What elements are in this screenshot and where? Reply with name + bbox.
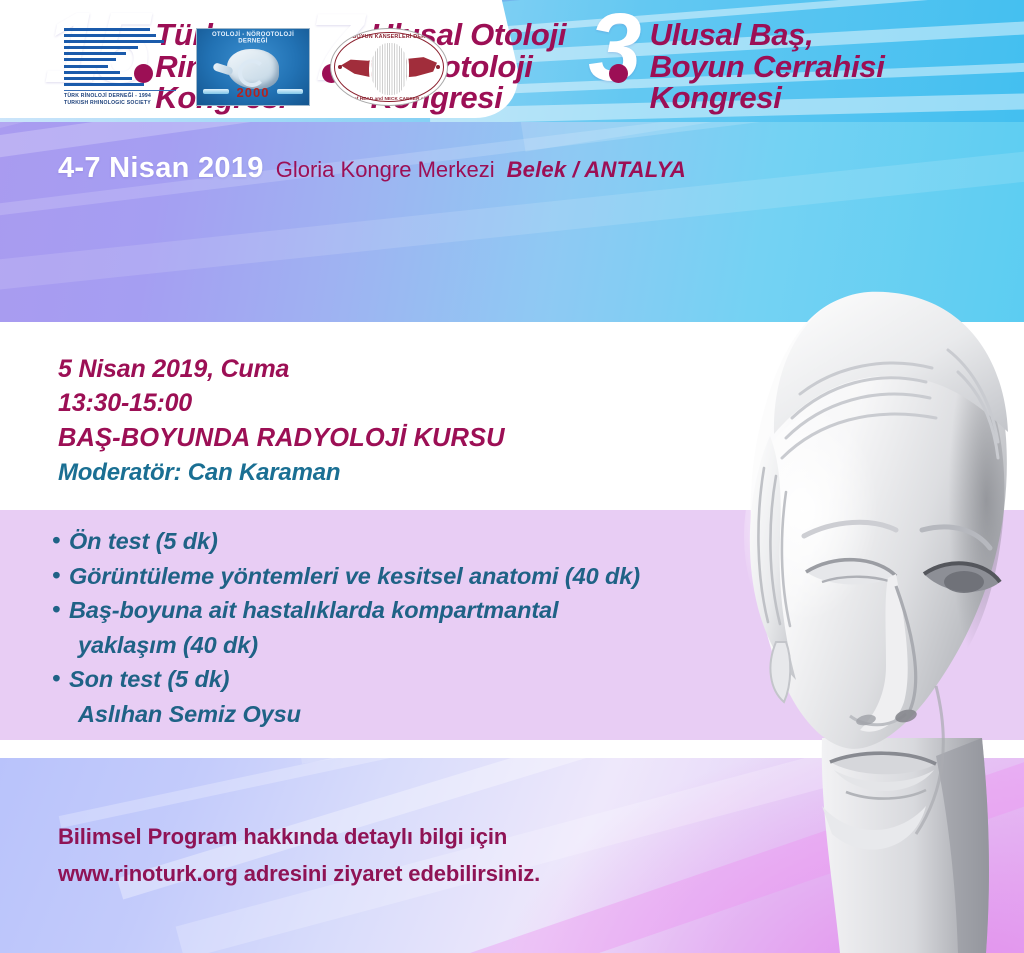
program-item-text: Baş-boyuna ait hastalıklarda kompartmant… <box>69 597 558 623</box>
bullet-icon: • <box>52 661 60 696</box>
society-logos: TÜRK RİNOLOJİ DERNEĞİ - 1994 TURKISH RHI… <box>64 28 448 106</box>
program-item-text: Son test (5 dk) <box>69 666 229 692</box>
turkish-rhinologic-society-logo: TÜRK RİNOLOJİ DERNEĞİ - 1994 TURKISH RHI… <box>64 28 176 106</box>
program-item-text: Ön test (5 dk) <box>69 528 218 554</box>
session-moderator: Moderatör: Can Karaman <box>58 456 505 490</box>
footer-line-1: Bilimsel Program hakkında detaylı bilgi … <box>58 818 540 855</box>
footer-info: Bilimsel Program hakkında detaylı bilgi … <box>58 818 540 892</box>
list-item: • Baş-boyuna ait hastalıklarda kompartma… <box>52 593 640 628</box>
session-info: 5 Nisan 2019, Cuma 13:30-15:00 BAŞ-BOYUN… <box>58 352 505 490</box>
logo1-caption-line1: TÜRK RİNOLOJİ DERNEĞİ - 1994 <box>64 93 176 100</box>
otology-neurotology-society-logo: OTOLOJİ - NÖROOTOLOJİ DERNEĞİ 2000 <box>196 28 310 106</box>
session-time: 13:30-15:00 <box>58 386 505 420</box>
congress-3: 3 Ulusal Baş, Boyun Cerrahisi Kongresi <box>588 5 884 114</box>
logo3-dot <box>338 65 342 69</box>
session-title: BAŞ-BOYUNDA RADYOLOJİ KURSU <box>58 420 505 456</box>
session-date: 5 Nisan 2019, Cuma <box>58 352 505 386</box>
footer-line-2: www.rinoturk.org adresini ziyaret edebil… <box>58 855 540 892</box>
logo2-arc-text: OTOLOJİ - NÖROOTOLOJİ DERNEĞİ <box>197 31 309 44</box>
congress-3-number: 3 <box>588 5 641 91</box>
head-profile-icon <box>371 43 407 95</box>
list-item: • Ön test (5 dk) <box>52 524 640 559</box>
congress-date-venue: 4-7 Nisan 2019 Gloria Kongre Merkezi Bel… <box>58 152 686 185</box>
congress-city: Belek / ANTALYA <box>507 157 686 183</box>
logo3-dot <box>436 65 440 69</box>
list-item-continuation: yaklaşım (40 dk) <box>52 628 640 663</box>
program-list: • Ön test (5 dk) • Görüntüleme yöntemler… <box>52 524 640 731</box>
program-item-continuation: yaklaşım (40 dk) <box>78 632 258 658</box>
list-item-speaker: Aslıhan Semiz Oysu <box>52 697 640 732</box>
program-item-text: Görüntüleme yöntemleri ve kesitsel anato… <box>69 563 640 589</box>
rhinology-bars-icon <box>64 28 172 86</box>
list-item: • Görüntüleme yöntemleri ve kesitsel ana… <box>52 559 640 594</box>
logo3-arc-bottom: SOCIETY of HEAD and NECK CANCER of TURKE… <box>331 96 447 101</box>
decorative-streak <box>515 122 1024 152</box>
ear-anatomy-icon <box>227 49 279 89</box>
list-item: • Son test (5 dk) <box>52 662 640 697</box>
ordinal-dot <box>609 64 628 83</box>
logo1-caption-line2: TURKISH RHINOLOGIC SOCIETY <box>64 100 176 107</box>
congress-poster: TÜRK RİNOLOJİ DERNEĞİ - 1994 TURKISH RHI… <box>0 0 1024 953</box>
congress-dates: 4-7 Nisan 2019 <box>58 152 264 185</box>
divider-strip <box>0 740 1024 758</box>
congress-venue: Gloria Kongre Merkezi <box>276 157 495 183</box>
program-speaker-name: Aslıhan Semiz Oysu <box>78 701 301 727</box>
head-neck-cancer-society-logo: BAŞ BOYUN KANSERLERİ DERNEĞİ SOCIETY of … <box>330 28 448 106</box>
logo2-year: 2000 <box>197 85 309 100</box>
bullet-icon: • <box>52 523 60 558</box>
logo3-arc-top: BAŞ BOYUN KANSERLERİ DERNEĞİ <box>331 34 447 40</box>
bullet-icon: • <box>52 558 60 593</box>
bullet-icon: • <box>52 592 60 627</box>
congress-3-name: Ulusal Baş, Boyun Cerrahisi Kongresi <box>650 19 885 114</box>
